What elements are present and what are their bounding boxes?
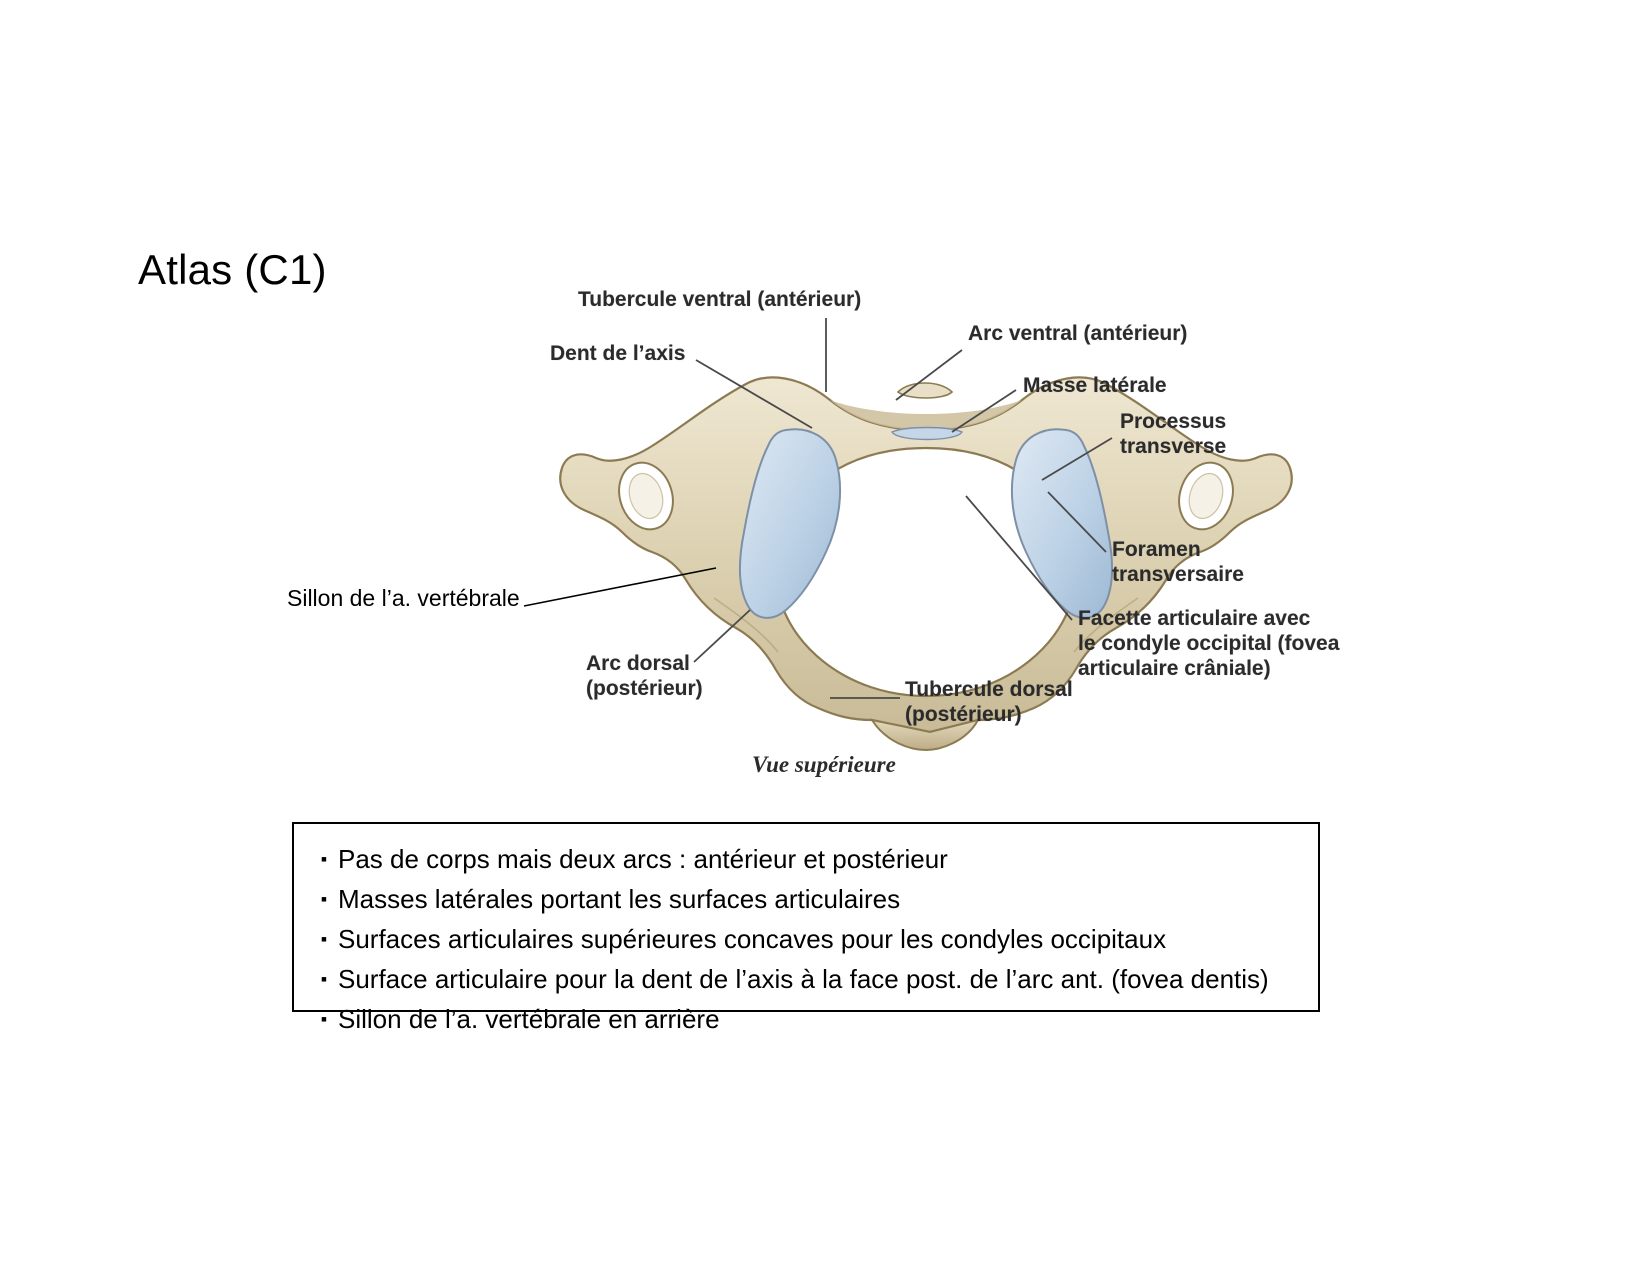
atlas-vertebra-figure: Tubercule ventral (antérieur) Dent de l’… — [500, 280, 1350, 800]
list-item-label: Surface articulaire pour la dent de l’ax… — [338, 962, 1269, 996]
figure-label-tubercule-ventral: Tubercule ventral (antérieur) — [578, 288, 861, 313]
list-item-label: Sillon de l’a. vertébrale en arrière — [338, 1002, 720, 1036]
bullet-marker-icon: ▪ — [310, 1002, 338, 1036]
annotation-sillon-vertebrale: Sillon de l’a. vertébrale — [287, 585, 520, 612]
figure-label-facette-articulaire: Facette articulaire avec le condyle occi… — [1078, 607, 1339, 681]
list-item-label: Surfaces articulaires supérieures concav… — [338, 922, 1166, 956]
summary-bullet-box: ▪ Pas de corps mais deux arcs : antérieu… — [292, 822, 1320, 1012]
figure-label-processus-transverse: Processus transverse — [1120, 410, 1226, 460]
list-item: ▪ Masses latérales portant les surfaces … — [294, 882, 1318, 916]
list-item: ▪ Surfaces articulaires supérieures conc… — [294, 922, 1318, 956]
list-item-label: Pas de corps mais deux arcs : antérieur … — [338, 842, 948, 876]
figure-label-masse-laterale: Masse latérale — [1023, 374, 1167, 399]
bullet-marker-icon: ▪ — [310, 842, 338, 876]
list-item-label: Masses latérales portant les surfaces ar… — [338, 882, 900, 916]
list-item: ▪ Pas de corps mais deux arcs : antérieu… — [294, 842, 1318, 876]
bullet-marker-icon: ▪ — [310, 882, 338, 916]
bullet-marker-icon: ▪ — [310, 922, 338, 956]
page-title: Atlas (C1) — [138, 246, 327, 294]
bullet-marker-icon: ▪ — [310, 962, 338, 996]
figure-caption: Vue supérieure — [752, 752, 896, 778]
figure-label-arc-dorsal: Arc dorsal (postérieur) — [586, 652, 703, 702]
figure-label-arc-ventral: Arc ventral (antérieur) — [968, 322, 1187, 347]
annotation-leader-line — [520, 560, 720, 620]
list-item: ▪ Surface articulaire pour la dent de l’… — [294, 962, 1318, 996]
figure-label-dent-de-laxis: Dent de l’axis — [550, 342, 685, 367]
figure-label-foramen-transversaire: Foramen transversaire — [1112, 538, 1244, 588]
list-item: ▪ Sillon de l’a. vertébrale en arrière — [294, 1002, 1318, 1036]
figure-label-tubercule-dorsal: Tubercule dorsal (postérieur) — [905, 678, 1073, 728]
